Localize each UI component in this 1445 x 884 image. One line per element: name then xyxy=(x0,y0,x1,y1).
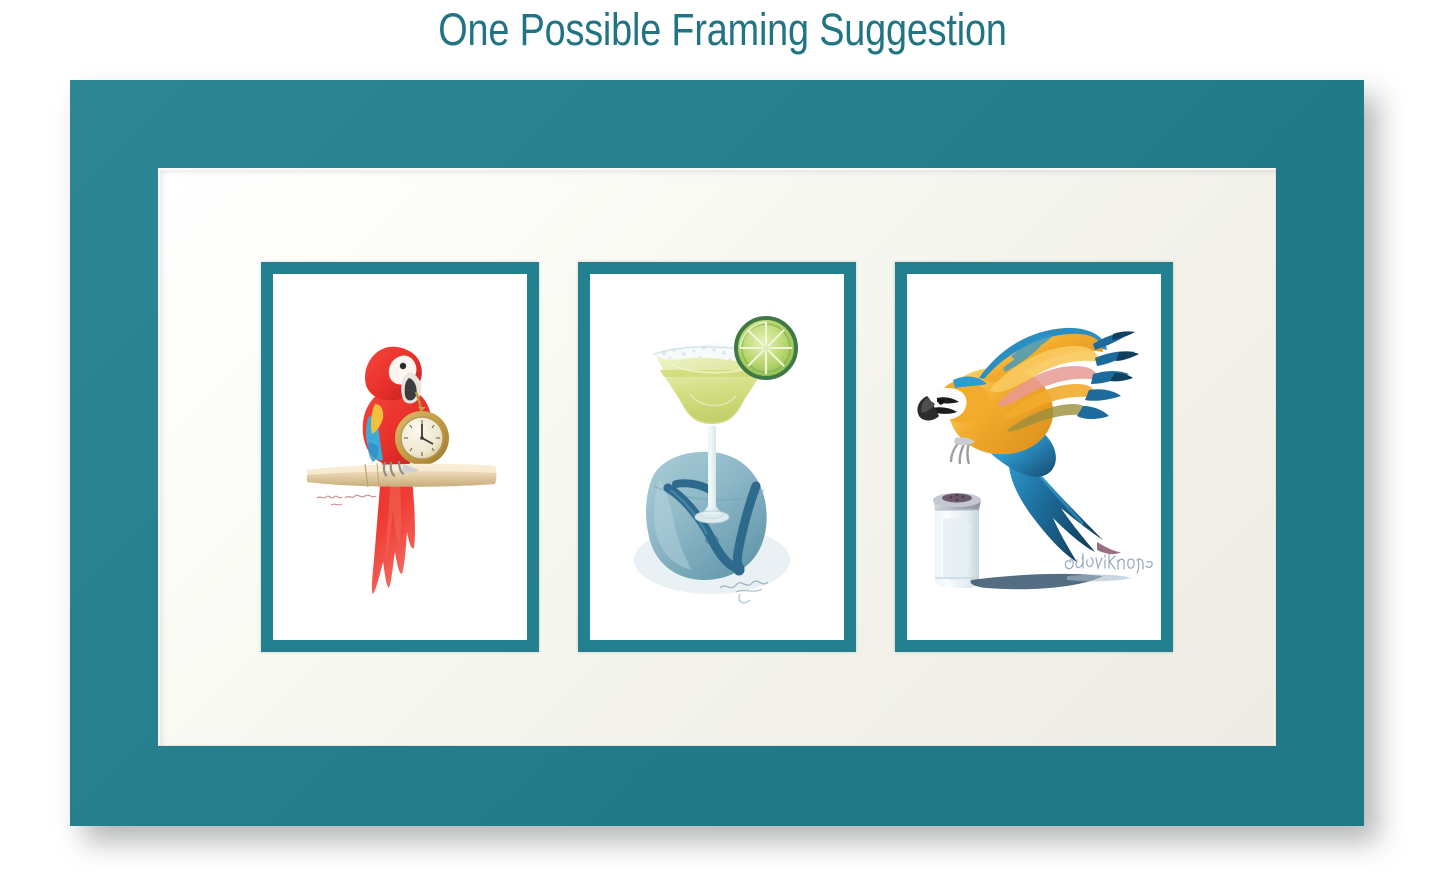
print-margarita-on-flip-flop[interactable] xyxy=(590,274,844,640)
watch-center-pin xyxy=(420,436,424,440)
print-flying-macaw-with-salt-shaker[interactable] xyxy=(907,274,1161,640)
signature-3 xyxy=(1065,554,1152,573)
drink-body xyxy=(660,370,764,422)
mat-openings xyxy=(158,168,1276,746)
frame-mat xyxy=(158,168,1276,746)
framing-suggestion-mockup: One Possible Framing Suggestion xyxy=(0,0,1445,884)
macaw-eye xyxy=(400,363,406,369)
lime-core xyxy=(763,345,769,351)
print-macaw-with-pocket-watch[interactable] xyxy=(273,274,527,640)
macaw-eye xyxy=(938,399,943,404)
margarita-artwork xyxy=(590,274,844,640)
opening-2[interactable] xyxy=(578,262,856,652)
opening-3[interactable] xyxy=(895,262,1173,652)
signature-1 xyxy=(317,495,376,505)
flying-macaw-artwork xyxy=(907,274,1161,640)
macaw-watch-artwork xyxy=(273,274,527,640)
page-title: One Possible Framing Suggestion xyxy=(116,4,1330,56)
ground-shadow-soft xyxy=(1067,575,1131,582)
strap-toe-post xyxy=(734,565,745,576)
picture-frame xyxy=(70,80,1364,826)
tail-tip-rose xyxy=(1097,542,1121,554)
shaker-salt-fill xyxy=(943,518,971,581)
opening-1[interactable] xyxy=(261,262,539,652)
